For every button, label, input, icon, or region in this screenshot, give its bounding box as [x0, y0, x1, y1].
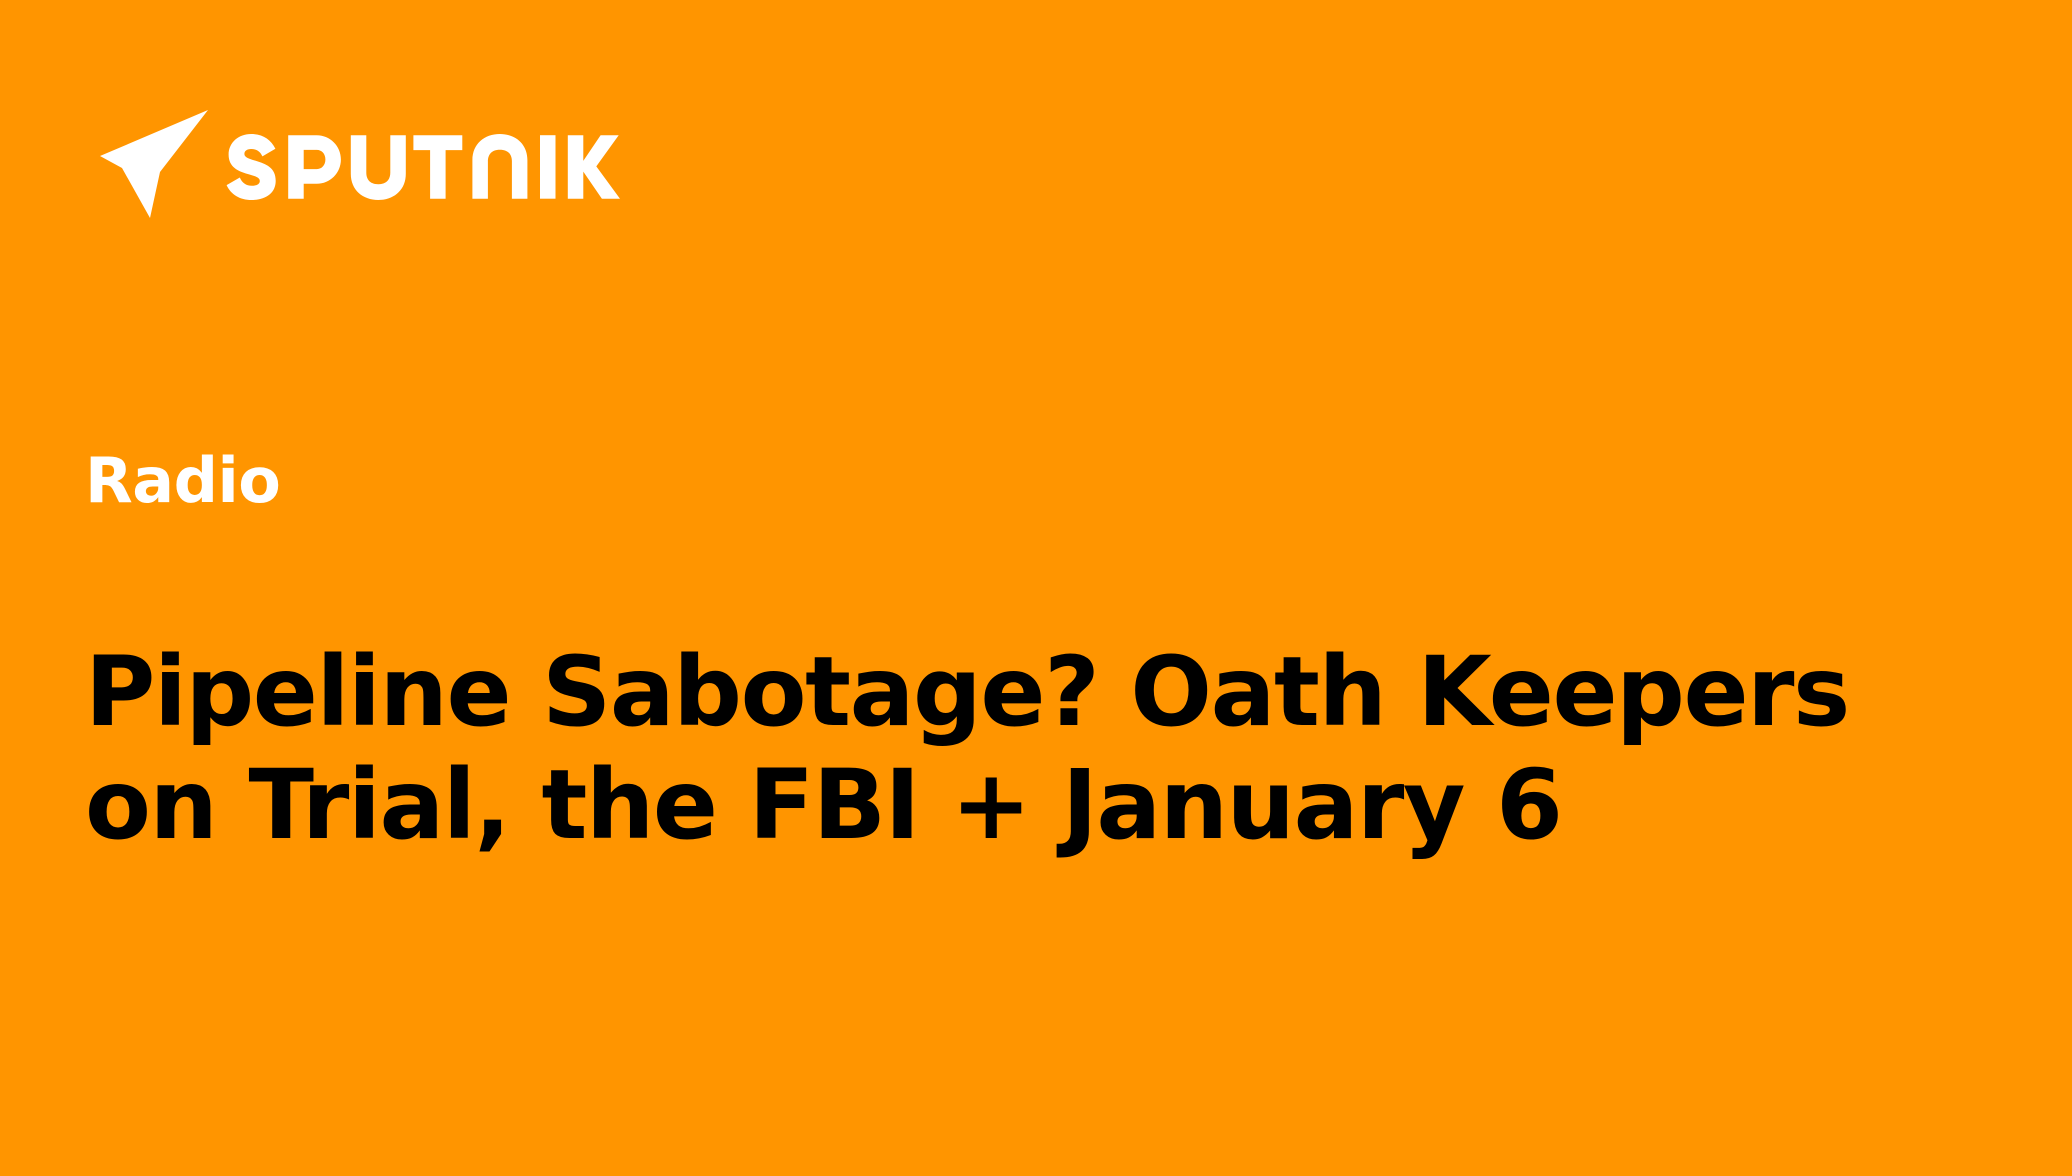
- sputnik-logo[interactable]: [100, 108, 620, 220]
- sputnik-arrow-icon: [100, 110, 212, 218]
- article-headline: Pipeline Sabotage? Oath Keepers on Trial…: [85, 636, 1985, 861]
- share-card: Radio Pipeline Sabotage? Oath Keepers on…: [0, 0, 2072, 1176]
- article-rubric[interactable]: Radio: [85, 448, 280, 513]
- sputnik-wordmark-icon: [220, 128, 620, 200]
